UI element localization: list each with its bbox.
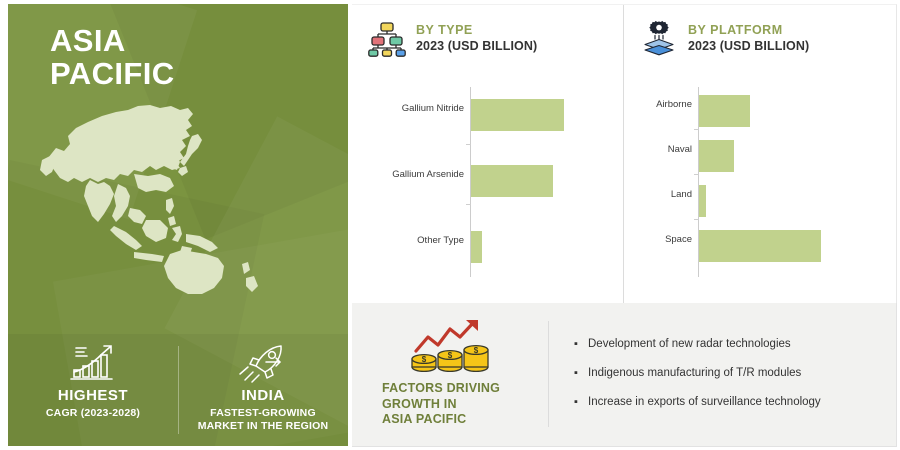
chart-by-platform: BY PLATFORM 2023 (USD BILLION) Airborne …	[623, 5, 896, 303]
bar	[471, 231, 482, 263]
bar-row: Airborne	[640, 89, 886, 133]
bar	[699, 230, 821, 262]
stat-subtext: FASTEST-GROWING MARKET IN THE REGION	[178, 407, 348, 433]
stat-headline: INDIA	[178, 388, 348, 405]
chart-by-type-subtitle: 2023 (USD BILLION)	[416, 39, 537, 54]
chart-by-type-title: BY TYPE	[416, 23, 537, 38]
stat-subtext-line2: MARKET IN THE REGION	[198, 420, 329, 432]
region-title-line1: ASIA	[50, 23, 126, 58]
bar-row: Gallium Arsenide	[368, 159, 612, 203]
bar	[471, 165, 553, 197]
bar-label: Land	[640, 190, 692, 200]
svg-text:$: $	[422, 355, 427, 364]
list-item: ▪ Development of new radar technologies	[574, 337, 882, 352]
region-stats-strip: HIGHEST CAGR (2023-2028)	[8, 334, 348, 446]
bar-row: Other Type	[368, 225, 612, 269]
bar-label: Naval	[640, 145, 692, 155]
factors-heading-line3: ASIA PACIFIC	[382, 412, 532, 428]
bullet-marker-icon: ▪	[574, 337, 588, 352]
axis-tick	[466, 204, 471, 205]
growth-bar-chart-icon	[8, 342, 178, 384]
region-panel: ASIA PACIFIC	[8, 4, 348, 446]
bullet-text: Development of new radar technologies	[588, 337, 791, 352]
factors-heading-line2: GROWTH IN	[382, 397, 532, 413]
chart-by-platform-title-group: BY PLATFORM 2023 (USD BILLION)	[688, 23, 809, 54]
factors-bullet-list: ▪ Development of new radar technologies …	[574, 337, 882, 424]
bar-label: Other Type	[368, 236, 464, 246]
chart-by-type-plot: Gallium Nitride Gallium Arsenide Other T…	[368, 87, 612, 277]
chart-by-type: BY TYPE 2023 (USD BILLION) Gallium Nitri…	[352, 5, 622, 303]
stat-headline: HIGHEST	[8, 388, 178, 405]
stat-subtext-line1: FASTEST-GROWING	[210, 407, 316, 419]
money-growth-icon: $ $ $	[372, 317, 532, 375]
factors-heading: FACTORS DRIVING GROWTH IN ASIA PACIFIC	[372, 381, 532, 428]
axis-tick	[466, 144, 471, 145]
gear-layers-icon	[640, 19, 678, 57]
chart-by-platform-header: BY PLATFORM 2023 (USD BILLION)	[640, 19, 809, 57]
bar-label: Gallium Nitride	[368, 104, 464, 114]
bar	[699, 95, 750, 127]
factors-heading-line1: FACTORS DRIVING	[382, 381, 532, 397]
stat-india-fastest-growing: INDIA FASTEST-GROWING MARKET IN THE REGI…	[178, 334, 348, 433]
charts-area: BY TYPE 2023 (USD BILLION) Gallium Nitri…	[352, 4, 897, 303]
factors-heading-group: $ $ $ FACTORS DRIVING GROWTH IN ASIA PAC…	[372, 317, 532, 428]
chart-by-platform-title: BY PLATFORM	[688, 23, 809, 38]
factors-divider	[548, 321, 549, 427]
bar-row: Gallium Nitride	[368, 93, 612, 137]
hierarchy-icon	[368, 19, 406, 57]
factors-panel: $ $ $ FACTORS DRIVING GROWTH IN ASIA PAC…	[352, 303, 897, 447]
bar-row: Space	[640, 224, 886, 268]
list-item: ▪ Increase in exports of surveillance te…	[574, 395, 882, 410]
rocket-icon	[178, 342, 348, 384]
chart-by-type-header: BY TYPE 2023 (USD BILLION)	[368, 19, 537, 57]
chart-by-type-title-group: BY TYPE 2023 (USD BILLION)	[416, 23, 537, 54]
chart-by-platform-plot: Airborne Naval Land Space	[640, 87, 886, 277]
bar	[471, 99, 564, 131]
bar-label: Airborne	[640, 100, 692, 110]
bullet-text: Increase in exports of surveillance tech…	[588, 395, 821, 410]
svg-text:$: $	[448, 351, 453, 360]
asia-pacific-map-icon	[30, 96, 330, 296]
list-item: ▪ Indigenous manufacturing of T/R module…	[574, 366, 882, 381]
bar-label: Gallium Arsenide	[368, 170, 464, 180]
bar-row: Land	[640, 179, 886, 223]
bar	[699, 140, 734, 172]
region-title-line2: PACIFIC	[50, 57, 175, 90]
bar-label: Space	[640, 235, 692, 245]
svg-text:$: $	[474, 346, 479, 355]
bar	[699, 185, 706, 217]
infographic-root: ASIA PACIFIC	[0, 0, 900, 450]
bullet-text: Indigenous manufacturing of T/R modules	[588, 366, 801, 381]
stat-highest-cagr: HIGHEST CAGR (2023-2028)	[8, 334, 178, 420]
chart-by-platform-subtitle: 2023 (USD BILLION)	[688, 39, 809, 54]
bullet-marker-icon: ▪	[574, 366, 588, 381]
stat-subtext: CAGR (2023-2028)	[8, 407, 178, 420]
bullet-marker-icon: ▪	[574, 395, 588, 410]
region-title: ASIA PACIFIC	[50, 24, 175, 91]
bar-row: Naval	[640, 134, 886, 178]
